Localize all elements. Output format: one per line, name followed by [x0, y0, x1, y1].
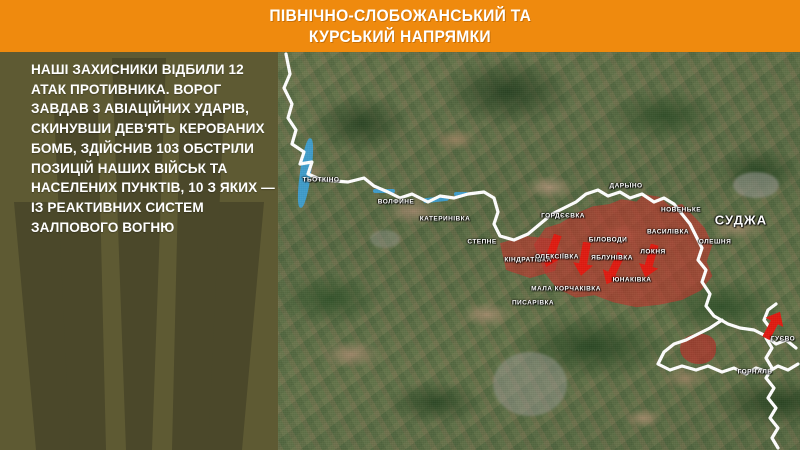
map-label-oleksiivka: ОЛЕКСІЇВКА: [535, 254, 579, 261]
summary-panel: НАШІ ЗАХИСНИКИ ВІДБИЛИ 12 АТАК ПРОТИВНИК…: [0, 52, 278, 450]
map-label-vasylivka: ВАСИЛІВКА: [647, 229, 689, 236]
page-title-line-1: ПІВНІЧНО-СЛОБОЖАНСЬКИЙ ТА: [269, 5, 531, 26]
map-label-katerynivka: КАТЕРИНІВКА: [420, 216, 470, 223]
map-label-bilovody: БІЛОВОДИ: [589, 237, 628, 244]
summary-text: НАШІ ЗАХИСНИКИ ВІДБИЛИ 12 АТАК ПРОТИВНИК…: [31, 60, 278, 237]
map-label-pysarivka: ПИСАРІВКА: [512, 300, 554, 307]
map-label-sudzha: СУДЖА: [715, 213, 768, 228]
map-label-yunakivka: ЮНАКІВКА: [613, 277, 652, 284]
map-label-mala-korchakivka: МАЛА КОРЧАКІВКА: [531, 286, 601, 293]
map-label-novenke: НОВЕНЬКЕ: [661, 207, 701, 214]
satellite-map[interactable]: ТЬОТКІНО ВОЛФИНЕ КАТЕРИНІВКА СТЕПНЕ КІНД…: [278, 52, 800, 450]
infographic-page: ПІВНІЧНО-СЛОБОЖАНСЬКИЙ ТА КУРСЬКИЙ НАПРЯ…: [0, 0, 800, 450]
map-label-stepne: СТЕПНЕ: [467, 239, 496, 246]
map-label-loknia: ЛОКНЯ: [640, 249, 665, 256]
map-label-hordieievka: ГОРДЄЄВКА: [541, 213, 585, 220]
front-line-overlay: [278, 52, 800, 450]
map-label-daryino: ДАРЬЇНО: [609, 183, 642, 190]
map-label-volfyne: ВОЛФИНЕ: [378, 199, 414, 206]
map-label-tyotkino: ТЬОТКІНО: [303, 177, 340, 184]
page-title-line-2: КУРСЬКИЙ НАПРЯМКИ: [309, 26, 491, 47]
map-label-hornal: ГОРНАЛЬ: [738, 369, 773, 376]
map-label-huevo: ГУЄВО: [771, 336, 795, 343]
header-banner: ПІВНІЧНО-СЛОБОЖАНСЬКИЙ ТА КУРСЬКИЙ НАПРЯ…: [0, 0, 800, 52]
map-label-yablunivka: ЯБЛУНІВКА: [591, 255, 633, 262]
map-label-oleshnia: ОЛЕШНЯ: [699, 239, 731, 246]
